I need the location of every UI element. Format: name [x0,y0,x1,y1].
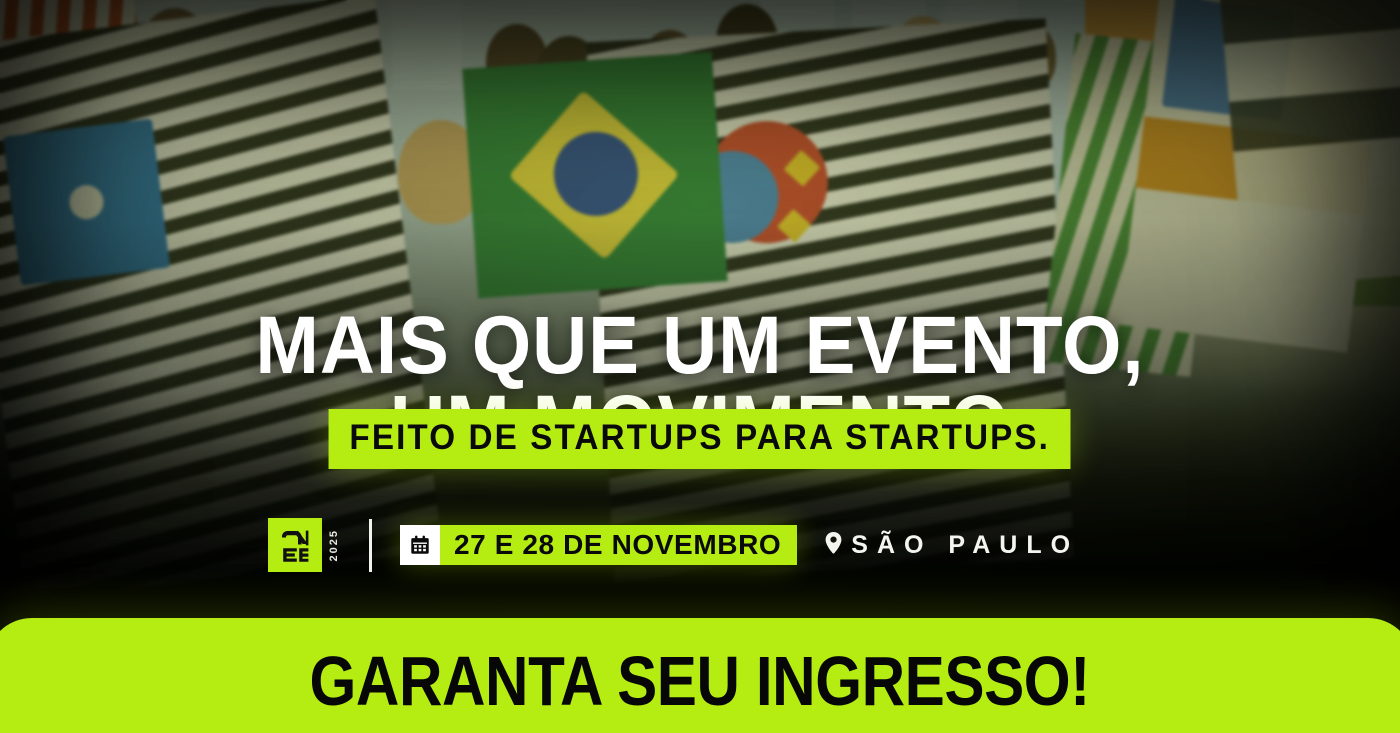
banner-content: MAIS QUE UM EVENTO, UM MOVIMENTO FEITO D… [0,0,1400,733]
case-monogram-icon [276,526,314,564]
tagline-row: FEITO DE STARTUPS PARA STARTUPS. [0,409,1400,469]
buy-ticket-button[interactable]: GARANTA SEU INGRESSO! [0,618,1400,733]
event-location: SÃO PAULO [825,531,1079,560]
event-location-label: SÃO PAULO [851,531,1079,560]
event-date-label: 27 E 28 DE NOVEMBRO [440,525,797,565]
logo-year-label: 2025 [329,529,340,561]
meta-divider [369,519,372,572]
headline-line-1: MAIS QUE UM EVENTO, [255,300,1144,391]
tagline-highlight: FEITO DE STARTUPS PARA STARTUPS. [329,409,1071,469]
calendar-icon [400,525,440,565]
event-promo-banner: ABSTARTUPS [0,0,1400,733]
map-pin-icon [825,532,842,559]
event-date-pill: 27 E 28 DE NOVEMBRO [400,525,797,565]
buy-ticket-label: GARANTA SEU INGRESSO! [310,646,1090,716]
case-logo [268,518,322,572]
event-meta-row: 2025 [268,518,1079,572]
